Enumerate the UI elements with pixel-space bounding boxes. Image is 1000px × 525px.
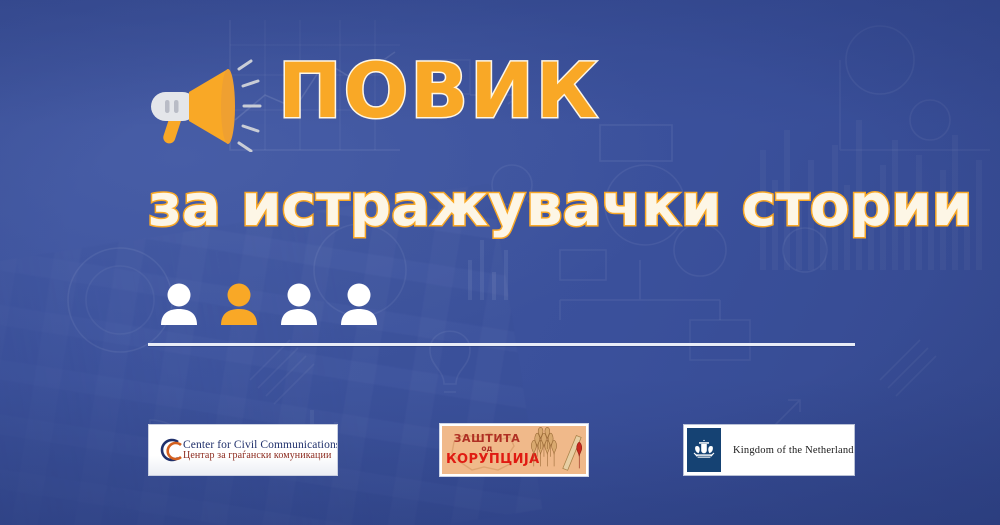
logo-zastita-od-korupcija: ЗАШТИТА од КОРУПЦИЈА (440, 424, 588, 476)
logo-center-for-civil-communications: Center for Civil Communications Центар з… (148, 424, 338, 476)
bowling-pins-icon (528, 427, 586, 473)
netherlands-navy-bar (687, 428, 721, 472)
person-icon-highlighted (220, 283, 258, 325)
people-icon-group (160, 283, 378, 325)
netherlands-logo-label: Kingdom of the Netherlands (721, 428, 855, 472)
headline-secondary: за истражувачки стории (148, 176, 972, 234)
headline-primary: ПОВИК (278, 53, 600, 129)
ccc-logo-text: Center for Civil Communications Центар з… (183, 439, 338, 462)
person-icon (280, 283, 318, 325)
double-c-monogram-icon (156, 435, 182, 465)
campaign-banner: ПОВИК за истражувачки стории (0, 0, 1000, 525)
netherlands-coat-of-arms-icon (692, 438, 716, 462)
horizontal-divider (148, 343, 855, 346)
logo-kingdom-of-the-netherlands: Kingdom of the Netherlands (683, 424, 855, 476)
corruption-line-3: КОРУПЦИЈА (446, 453, 528, 467)
person-icon (340, 283, 378, 325)
ccc-logo-text-en: Center for Civil Communications (183, 439, 338, 451)
megaphone-icon (143, 56, 268, 152)
corruption-line-1: ЗАШТИТА (446, 433, 528, 445)
person-icon (160, 283, 198, 325)
corruption-logo-text: ЗАШТИТА од КОРУПЦИЈА (442, 433, 528, 468)
partner-logo-strip: Center for Civil Communications Центар з… (148, 424, 855, 476)
ccc-logo-text-mk: Центар за граѓански комуникации (183, 451, 338, 462)
banner-content: ПОВИК за истражувачки стории (0, 0, 1000, 525)
